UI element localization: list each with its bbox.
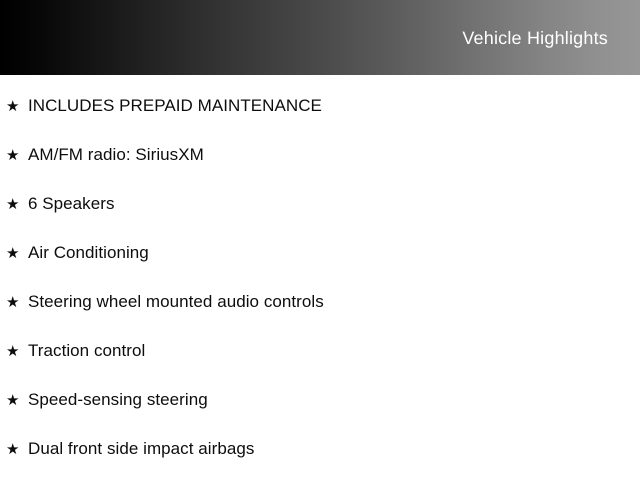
list-item: ★ 6 Speakers [6,195,115,217]
list-item: ★ Steering wheel mounted audio controls [6,293,324,315]
highlight-label: AM/FM radio: SiriusXM [28,146,204,163]
star-icon: ★ [6,393,28,408]
slide-header-band: Vehicle Highlights [0,0,640,75]
star-icon: ★ [6,246,28,261]
page-title: Vehicle Highlights [462,29,608,47]
list-item: ★ Traction control [6,342,145,364]
highlight-label: Dual front side impact airbags [28,440,254,457]
highlight-label: Steering wheel mounted audio controls [28,293,324,310]
highlight-label: Air Conditioning [28,244,149,261]
vehicle-highlights-list: ★ INCLUDES PREPAID MAINTENANCE ★ AM/FM r… [0,75,640,480]
highlight-label: Traction control [28,342,145,359]
list-item: ★ Air Conditioning [6,244,149,266]
list-item: ★ Dual front side impact airbags [6,440,254,462]
list-item: ★ AM/FM radio: SiriusXM [6,146,204,168]
star-icon: ★ [6,295,28,310]
list-item: ★ INCLUDES PREPAID MAINTENANCE [6,97,322,119]
star-icon: ★ [6,197,28,212]
vehicle-highlights-slide: Vehicle Highlights ★ INCLUDES PREPAID MA… [0,0,640,480]
star-icon: ★ [6,148,28,163]
star-icon: ★ [6,99,28,114]
list-item: ★ Speed-sensing steering [6,391,208,413]
highlight-label: 6 Speakers [28,195,115,212]
highlight-label: Speed-sensing steering [28,391,208,408]
star-icon: ★ [6,442,28,457]
star-icon: ★ [6,344,28,359]
highlight-label: INCLUDES PREPAID MAINTENANCE [28,97,322,114]
